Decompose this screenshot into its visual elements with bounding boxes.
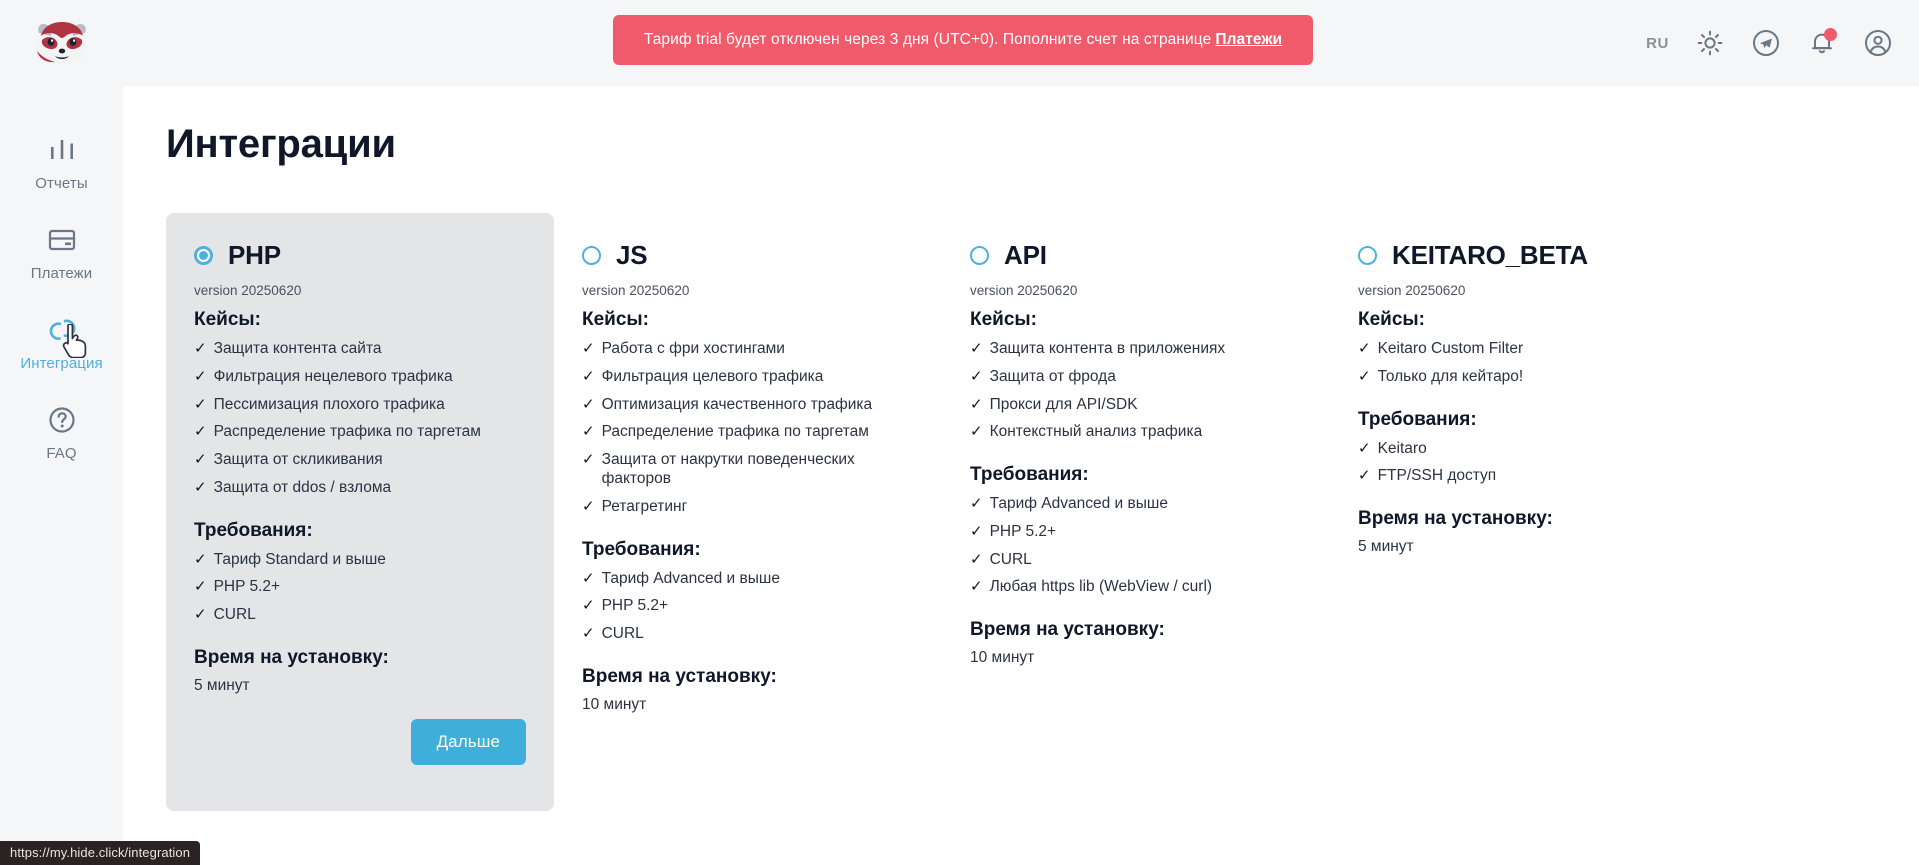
header-actions: RU bbox=[1644, 0, 1895, 86]
feature-label: Прокси для API/SDK bbox=[990, 395, 1138, 414]
check-icon: ✓ bbox=[194, 423, 207, 442]
next-button[interactable]: Дальше bbox=[411, 719, 526, 765]
feature-label: Фильтрация нецелевого трафика bbox=[214, 367, 453, 386]
sidebar-item-label: Интеграция bbox=[20, 355, 102, 372]
radio-unselected-icon[interactable] bbox=[582, 246, 601, 265]
integration-card[interactable]: KEITARO_BETAversion 20250620Кейсы:✓Keita… bbox=[1330, 213, 1718, 580]
install-time-value: 10 минут bbox=[970, 649, 1302, 667]
check-icon: ✓ bbox=[194, 578, 207, 597]
install-time-heading: Время на установку: bbox=[970, 619, 1302, 641]
integration-card[interactable]: PHPversion 20250620Кейсы:✓Защита контент… bbox=[166, 213, 554, 811]
feature-item: ✓CURL bbox=[970, 550, 1302, 570]
check-icon: ✓ bbox=[582, 368, 595, 387]
feature-label: CURL bbox=[214, 605, 256, 624]
check-icon: ✓ bbox=[970, 551, 983, 570]
check-icon: ✓ bbox=[582, 498, 595, 517]
theme-toggle-button[interactable] bbox=[1693, 26, 1727, 60]
check-icon: ✓ bbox=[194, 551, 207, 570]
feature-label: Защита от фрода bbox=[990, 367, 1116, 386]
browser-status-bar-url: https://my.hide.click/integration bbox=[0, 841, 200, 865]
feature-label: Тариф Advanced и выше bbox=[990, 494, 1168, 513]
check-icon: ✓ bbox=[194, 606, 207, 625]
banner-payments-link[interactable]: Платежи bbox=[1215, 31, 1282, 49]
sidebar-item-integration[interactable]: Интеграция bbox=[0, 298, 123, 388]
sidebar-item-label: Отчеты bbox=[35, 175, 87, 192]
check-icon: ✓ bbox=[194, 340, 207, 359]
app-root: Отчеты Платежи bbox=[0, 0, 1919, 865]
check-icon: ✓ bbox=[194, 479, 207, 498]
feature-item: ✓Защита контента в приложениях bbox=[970, 339, 1302, 359]
integration-card[interactable]: APIversion 20250620Кейсы:✓Защита контент… bbox=[942, 213, 1330, 691]
feature-item: ✓Keitaro bbox=[1358, 439, 1690, 459]
feature-item: ✓Только для кейтаро! bbox=[1358, 367, 1690, 387]
question-circle-icon bbox=[47, 402, 77, 438]
card-header: KEITARO_BETA bbox=[1358, 240, 1690, 271]
feature-item: ✓Защита контента сайта bbox=[194, 339, 526, 359]
feature-label: Пессимизация плохого трафика bbox=[214, 395, 445, 414]
sun-icon bbox=[1697, 30, 1723, 56]
feature-label: Оптимизация качественного трафика bbox=[602, 395, 873, 414]
feature-item: ✓Ретагретинг bbox=[582, 497, 914, 517]
check-icon: ✓ bbox=[582, 396, 595, 415]
feature-item: ✓Прокси для API/SDK bbox=[970, 395, 1302, 415]
cases-heading: Кейсы: bbox=[194, 309, 526, 331]
card-title: KEITARO_BETA bbox=[1392, 240, 1588, 271]
radio-unselected-icon[interactable] bbox=[1358, 246, 1377, 265]
account-button[interactable] bbox=[1861, 26, 1895, 60]
feature-item: ✓Защита от накрутки поведенческих фактор… bbox=[582, 450, 914, 489]
check-icon: ✓ bbox=[970, 368, 983, 387]
feature-label: Защита от ddos / взлома bbox=[214, 478, 392, 497]
install-time-value: 5 минут bbox=[1358, 538, 1690, 556]
check-icon: ✓ bbox=[582, 625, 595, 644]
requirements-heading: Требования: bbox=[194, 520, 526, 542]
integration-cards-list: PHPversion 20250620Кейсы:✓Защита контент… bbox=[166, 213, 1919, 811]
user-account-icon bbox=[1864, 29, 1892, 57]
feature-label: Keitaro Custom Filter bbox=[1378, 339, 1524, 358]
feature-item: ✓Фильтрация нецелевого трафика bbox=[194, 367, 526, 387]
check-icon: ✓ bbox=[1358, 440, 1371, 459]
credit-card-icon bbox=[47, 222, 77, 258]
card-title: API bbox=[1004, 240, 1047, 271]
install-time-value: 10 минут bbox=[582, 696, 914, 714]
feature-label: Распределение трафика по таргетам bbox=[214, 422, 481, 441]
card-header: JS bbox=[582, 240, 914, 271]
feature-item: ✓Работа с фри хостингами bbox=[582, 339, 914, 359]
check-icon: ✓ bbox=[582, 451, 595, 470]
check-icon: ✓ bbox=[582, 570, 595, 589]
install-time-heading: Время на установку: bbox=[582, 666, 914, 688]
card-version: version 20250620 bbox=[194, 283, 526, 298]
bar-chart-icon bbox=[47, 132, 77, 168]
requirements-heading: Требования: bbox=[1358, 409, 1690, 431]
check-icon: ✓ bbox=[970, 495, 983, 514]
telegram-icon bbox=[1752, 29, 1780, 57]
check-icon: ✓ bbox=[970, 340, 983, 359]
install-time-heading: Время на установку: bbox=[194, 647, 526, 669]
feature-item: ✓Тариф Advanced и выше bbox=[582, 569, 914, 589]
feature-label: PHP 5.2+ bbox=[990, 522, 1057, 541]
install-time-value: 5 минут bbox=[194, 677, 526, 695]
feature-item: ✓Контекстный анализ трафика bbox=[970, 422, 1302, 442]
feature-label: Фильтрация целевого трафика bbox=[602, 367, 824, 386]
feature-item: ✓Защита от скликивания bbox=[194, 450, 526, 470]
feature-label: Защита контента в приложениях bbox=[990, 339, 1226, 358]
page-title: Интеграции bbox=[166, 122, 1919, 167]
sidebar-item-reports[interactable]: Отчеты bbox=[0, 118, 123, 208]
feature-item: ✓FTP/SSH доступ bbox=[1358, 466, 1690, 486]
app-logo[interactable] bbox=[0, 0, 123, 86]
card-version: version 20250620 bbox=[1358, 283, 1690, 298]
check-icon: ✓ bbox=[970, 423, 983, 442]
feature-item: ✓Любая https lib (WebView / curl) bbox=[970, 577, 1302, 597]
card-version: version 20250620 bbox=[582, 283, 914, 298]
raccoon-logo-icon bbox=[33, 20, 91, 66]
banner-text: Тариф trial будет отключен через 3 дня (… bbox=[644, 31, 1212, 49]
sidebar-item-payments[interactable]: Платежи bbox=[0, 208, 123, 298]
feature-item: ✓Оптимизация качественного трафика bbox=[582, 395, 914, 415]
integration-card[interactable]: JSversion 20250620Кейсы:✓Работа с фри хо… bbox=[554, 213, 942, 738]
card-title: PHP bbox=[228, 240, 281, 271]
feature-item: ✓PHP 5.2+ bbox=[582, 596, 914, 616]
install-time-heading: Время на установку: bbox=[1358, 508, 1690, 530]
feature-item: ✓CURL bbox=[582, 624, 914, 644]
feature-item: ✓Защита от фрода bbox=[970, 367, 1302, 387]
check-icon: ✓ bbox=[194, 451, 207, 470]
feature-label: Контекстный анализ трафика bbox=[990, 422, 1203, 441]
sidebar: Отчеты Платежи bbox=[0, 0, 123, 865]
main-content: Интеграции PHPversion 20250620Кейсы:✓Защ… bbox=[123, 86, 1919, 865]
top-header: Тариф trial будет отключен через 3 дня (… bbox=[123, 0, 1919, 86]
check-icon: ✓ bbox=[970, 578, 983, 597]
feature-label: Распределение трафика по таргетам bbox=[602, 422, 869, 441]
feature-item: ✓PHP 5.2+ bbox=[194, 577, 526, 597]
check-icon: ✓ bbox=[194, 396, 207, 415]
feature-label: Только для кейтаро! bbox=[1378, 367, 1524, 386]
requirements-heading: Требования: bbox=[582, 539, 914, 561]
feature-item: ✓Фильтрация целевого трафика bbox=[582, 367, 914, 387]
feature-label: CURL bbox=[990, 550, 1032, 569]
card-version: version 20250620 bbox=[970, 283, 1302, 298]
feature-label: PHP 5.2+ bbox=[214, 577, 281, 596]
feature-item: ✓Пессимизация плохого трафика bbox=[194, 395, 526, 415]
feature-label: Ретагретинг bbox=[602, 497, 688, 516]
check-icon: ✓ bbox=[582, 340, 595, 359]
sidebar-nav: Отчеты Платежи bbox=[0, 118, 123, 478]
telegram-button[interactable] bbox=[1749, 26, 1783, 60]
cases-heading: Кейсы: bbox=[970, 309, 1302, 331]
feature-item: ✓Тариф Standard и выше bbox=[194, 550, 526, 570]
check-icon: ✓ bbox=[1358, 467, 1371, 486]
check-icon: ✓ bbox=[1358, 340, 1371, 359]
feature-label: Работа с фри хостингами bbox=[602, 339, 785, 358]
feature-label: Любая https lib (WebView / curl) bbox=[990, 577, 1213, 596]
feature-label: FTP/SSH доступ bbox=[1378, 466, 1497, 485]
feature-item: ✓CURL bbox=[194, 605, 526, 625]
sidebar-item-label: Платежи bbox=[31, 265, 93, 282]
notification-badge-dot bbox=[1824, 28, 1837, 41]
check-icon: ✓ bbox=[582, 597, 595, 616]
link-chain-icon bbox=[46, 312, 78, 348]
feature-item: ✓Защита от ddos / взлома bbox=[194, 478, 526, 498]
feature-item: ✓PHP 5.2+ bbox=[970, 522, 1302, 542]
language-switcher[interactable]: RU bbox=[1644, 31, 1671, 56]
check-icon: ✓ bbox=[970, 396, 983, 415]
notifications-button[interactable] bbox=[1805, 26, 1839, 60]
radio-unselected-icon[interactable] bbox=[970, 246, 989, 265]
feature-label: Защита контента сайта bbox=[214, 339, 382, 358]
feature-label: CURL bbox=[602, 624, 644, 643]
cases-heading: Кейсы: bbox=[582, 309, 914, 331]
card-header: PHP bbox=[194, 240, 526, 271]
feature-label: Тариф Advanced и выше bbox=[602, 569, 780, 588]
check-icon: ✓ bbox=[194, 368, 207, 387]
check-icon: ✓ bbox=[582, 423, 595, 442]
card-title: JS bbox=[616, 240, 647, 271]
requirements-heading: Требования: bbox=[970, 464, 1302, 486]
sidebar-item-label: FAQ bbox=[46, 445, 76, 462]
cases-heading: Кейсы: bbox=[1358, 309, 1690, 331]
feature-label: PHP 5.2+ bbox=[602, 596, 669, 615]
feature-label: Keitaro bbox=[1378, 439, 1427, 458]
feature-item: ✓Тариф Advanced и выше bbox=[970, 494, 1302, 514]
card-actions: Дальше bbox=[194, 719, 526, 765]
feature-item: ✓Keitaro Custom Filter bbox=[1358, 339, 1690, 359]
trial-expiry-banner: Тариф trial будет отключен через 3 дня (… bbox=[613, 15, 1313, 65]
radio-selected-icon[interactable] bbox=[194, 246, 213, 265]
sidebar-item-faq[interactable]: FAQ bbox=[0, 388, 123, 478]
check-icon: ✓ bbox=[1358, 368, 1371, 387]
feature-label: Защита от скликивания bbox=[214, 450, 383, 469]
feature-label: Тариф Standard и выше bbox=[214, 550, 386, 569]
card-header: API bbox=[970, 240, 1302, 271]
feature-item: ✓Распределение трафика по таргетам bbox=[582, 422, 914, 442]
feature-label: Защита от накрутки поведенческих факторо… bbox=[602, 450, 914, 489]
feature-item: ✓Распределение трафика по таргетам bbox=[194, 422, 526, 442]
check-icon: ✓ bbox=[970, 523, 983, 542]
